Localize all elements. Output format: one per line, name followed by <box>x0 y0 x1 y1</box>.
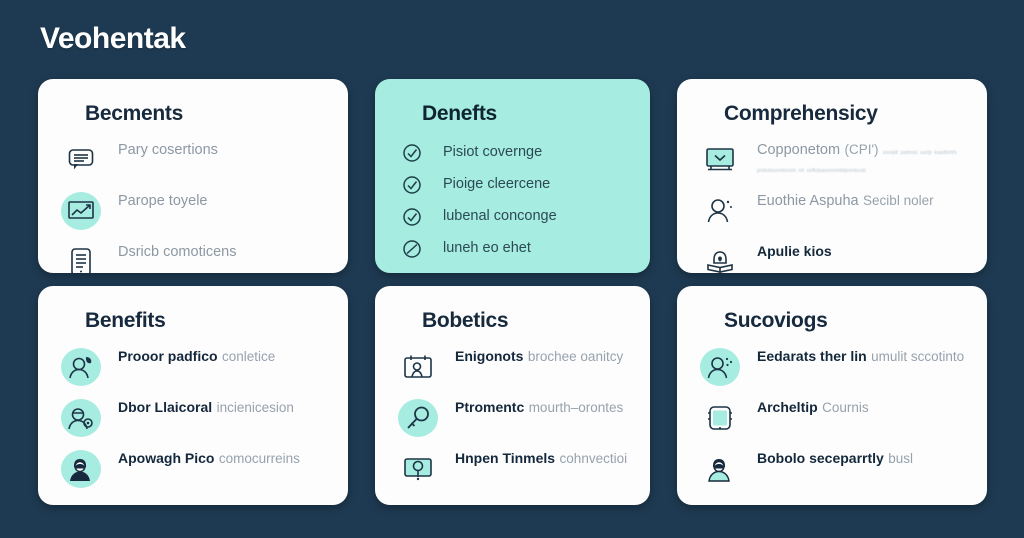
list-item-text: Apulie kios <box>757 242 832 261</box>
card-title: Benefits <box>85 309 328 333</box>
list-item-sub: mourth–orontes <box>529 400 624 415</box>
check-circle-icon <box>397 140 427 166</box>
list-item[interactable]: lubenal conconge <box>397 204 630 230</box>
check-circle-icon <box>397 172 427 198</box>
person-avatar-icon <box>60 449 102 489</box>
person-book-icon <box>699 242 741 273</box>
calendar-person-icon <box>397 347 439 387</box>
list-item-label: Dbor Llaicoral <box>118 399 212 415</box>
person-avatar-icon <box>699 449 741 489</box>
list-item-sub: umulit sccotinto <box>871 349 964 364</box>
list-item[interactable]: Apowagh Pico comocurreins <box>60 449 328 489</box>
list-item[interactable]: Pisiot covernge <box>397 140 630 166</box>
list-item[interactable]: Dbor Llaicoral incienicesion <box>60 398 328 438</box>
list-item-label: lubenal conconge <box>443 208 557 225</box>
check-circle-icon <box>397 204 427 230</box>
list-item-text: Enigonots brochee oanitcy <box>455 347 623 366</box>
list-item[interactable]: Dsricb comoticens <box>60 242 328 273</box>
list-item-text: Apowagh Pico comocurreins <box>118 449 300 468</box>
card-becments[interactable]: Becments Pary cosertions <box>38 79 348 273</box>
page-title: Veohentak <box>40 22 186 56</box>
list-item[interactable]: luneh eo ehet <box>397 236 630 262</box>
chart-trending-up-icon <box>60 191 102 231</box>
list-item-label: Archeltip <box>757 399 818 415</box>
person-gear-icon <box>60 398 102 438</box>
list-item[interactable]: Archeltip Cournis <box>699 398 967 438</box>
list-item[interactable]: Parope toyele <box>60 191 328 231</box>
list-item-label: Hnpen Tinmels <box>455 450 555 466</box>
card-items: Pary cosertions Parope toyele <box>60 140 328 273</box>
list-item[interactable]: Ptromentc mourth–orontes <box>397 398 630 438</box>
card-items: Enigonots brochee oanitcy Ptromentc mour… <box>397 347 630 500</box>
list-item-label: Apulie kios <box>757 243 832 259</box>
list-item-sub: brochee oanitcy <box>528 349 623 364</box>
document-lines-icon <box>60 242 102 273</box>
list-item[interactable]: Copponetom (CPI') sooiplt patmos uurlp k… <box>699 140 967 180</box>
list-item-label: luneh eo ehet <box>443 240 531 257</box>
list-item-label: Pary cosertions <box>118 142 218 158</box>
list-item-label: Euothie Aspuha <box>757 193 859 209</box>
card-sucoviogs[interactable]: Sucoviogs Eedarats ther lin umulit sccot… <box>677 286 987 505</box>
card-title: Bobetics <box>422 309 630 333</box>
list-item-sub: cohnvectioi <box>560 451 628 466</box>
list-item-text: Prooor padfico conletice <box>118 347 275 366</box>
list-item-sub: Cournis <box>822 400 869 415</box>
list-item[interactable]: Apulie kios <box>699 242 967 273</box>
card-grid: Becments Pary cosertions <box>38 79 987 505</box>
list-item-text: Archeltip Cournis <box>757 398 869 417</box>
list-item-label: Prooor padfico <box>118 348 218 364</box>
list-item-text: Parope toyele <box>118 191 207 210</box>
list-item[interactable]: Prooor padfico conletice <box>60 347 328 387</box>
list-item-sub: incienicesion <box>217 400 294 415</box>
list-item[interactable]: Pary cosertions <box>60 140 328 180</box>
list-item-text: Euothie Aspuha Secibl noler <box>757 191 934 210</box>
monitor-chevron-icon <box>699 140 741 180</box>
card-title: Comprehensicy <box>724 102 967 126</box>
list-item-sub: Secibl noler <box>863 193 934 208</box>
list-item-label: Parope toyele <box>118 193 207 209</box>
card-items: Copponetom (CPI') sooiplt patmos uurlp k… <box>699 140 967 273</box>
person-sparkles-icon <box>699 347 741 387</box>
list-item-text: Hnpen Tinmels cohnvectioi <box>455 449 627 468</box>
person-sparkle-icon <box>699 191 741 231</box>
list-item-text: Ptromentc mourth–orontes <box>455 398 623 417</box>
card-title: Becments <box>85 102 328 126</box>
list-item[interactable]: Eolcinier inton <box>397 268 630 273</box>
card-items: Eedarats ther lin umulit sccotinto Arche… <box>699 347 967 500</box>
list-item-label: Pioige cleercene <box>443 176 550 193</box>
list-item-label: Eolcinier inton <box>443 272 534 273</box>
list-item[interactable]: Pioige cleercene <box>397 172 630 198</box>
list-item-sub: conletice <box>222 349 275 364</box>
card-denefts[interactable]: Denefts Pisiot covernge Pioige cleercene <box>375 79 650 273</box>
chat-lines-icon <box>60 140 102 180</box>
list-item-text: Eedarats ther lin umulit sccotinto <box>757 347 964 366</box>
list-item-text: Dsricb comoticens <box>118 242 236 261</box>
list-item-text: Bobolo seceparrtly busl <box>757 449 913 468</box>
list-item-sub: (CPI') <box>844 142 878 157</box>
list-item[interactable]: Euothie Aspuha Secibl noler <box>699 191 967 231</box>
card-bobetics[interactable]: Bobetics Enigonots brochee oanitcy <box>375 286 650 505</box>
card-benefits[interactable]: Benefits Prooor padfico conletice <box>38 286 348 505</box>
list-item-label: Eedarats ther lin <box>757 348 867 364</box>
card-items: Prooor padfico conletice Dbor Llaicoral <box>60 347 328 500</box>
list-item-sub: comocurreins <box>219 451 300 466</box>
tablet-icon <box>699 398 741 438</box>
list-item-label: Pisiot covernge <box>443 144 542 161</box>
list-item-label: Copponetom <box>757 142 840 158</box>
list-item[interactable]: Eedarats ther lin umulit sccotinto <box>699 347 967 387</box>
card-title: Denefts <box>422 102 630 126</box>
list-item[interactable]: Enigonots brochee oanitcy <box>397 347 630 387</box>
screen-search-icon <box>397 449 439 489</box>
list-item-label: Apowagh Pico <box>118 450 214 466</box>
triangle-down-icon <box>397 268 427 273</box>
list-item-label: Bobolo seceparrtly <box>757 450 884 466</box>
list-item-text: Dbor Llaicoral incienicesion <box>118 398 294 417</box>
list-item-text: Copponetom (CPI') sooiplt patmos uurlp k… <box>757 140 967 177</box>
list-item-label: Enigonots <box>455 348 523 364</box>
list-item-text: Pary cosertions <box>118 140 218 159</box>
card-comprehensicy[interactable]: Comprehensicy Copponetom (CPI') sooiplt … <box>677 79 987 273</box>
list-item-label: Ptromentc <box>455 399 524 415</box>
person-leaf-icon <box>60 347 102 387</box>
list-item-sub: busl <box>888 451 913 466</box>
list-item[interactable]: Hnpen Tinmels cohnvectioi <box>397 449 630 489</box>
card-title: Sucoviogs <box>724 309 967 333</box>
ban-circle-icon <box>397 236 427 262</box>
magnifier-key-icon <box>397 398 439 438</box>
list-item-label: Dsricb comoticens <box>118 244 236 260</box>
list-item[interactable]: Bobolo seceparrtly busl <box>699 449 967 489</box>
card-items: Pisiot covernge Pioige cleercene lubenal… <box>397 140 630 273</box>
